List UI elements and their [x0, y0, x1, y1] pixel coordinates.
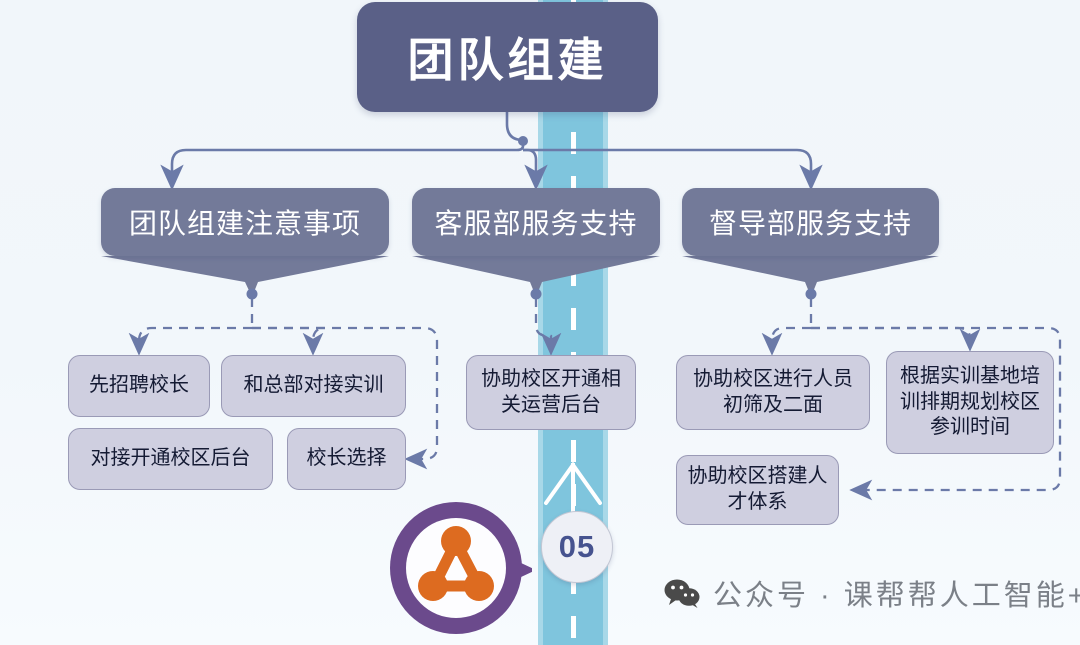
connector-title-to-n2-2: [523, 150, 536, 184]
leaf-label: 校长选择: [307, 446, 387, 472]
footer-credit: 公众号 · 课帮帮人工智能+: [664, 572, 1080, 614]
brand-logo: [384, 496, 532, 644]
step-number-badge: 05: [541, 511, 613, 583]
dash-to-l2: [252, 328, 325, 350]
title-label: 团队组建: [408, 24, 608, 90]
brand-logo-icon: [384, 496, 532, 644]
leaf-box-recruit-principal[interactable]: 先招聘校长: [68, 355, 210, 417]
leaf-box-campus-backend-setup[interactable]: 对接开通校区后台: [68, 428, 273, 490]
leaf-label: 协助校区开通相关运营后台: [475, 367, 627, 418]
dash-to-l1: [139, 328, 252, 350]
leaf-box-staff-screening-interview[interactable]: 协助校区进行人员初筛及二面: [676, 355, 870, 430]
funnel-dot-3: [806, 289, 817, 300]
step-number-label: 05: [559, 529, 595, 565]
connector-title-to-n2-3: [523, 150, 811, 184]
title-box[interactable]: 团队组建: [357, 2, 658, 112]
funnel-dot-1: [247, 289, 258, 300]
leaf-label: 协助校区进行人员初筛及二面: [685, 367, 861, 418]
funnel-dot-2: [531, 289, 542, 300]
branch-box-supervision-support[interactable]: 督导部服务支持: [682, 188, 939, 256]
leaf-label: 和总部对接实训: [244, 373, 384, 399]
footer-text: 公众号 · 课帮帮人工智能+: [713, 572, 1080, 614]
leaf-box-training-schedule-planning[interactable]: 根据实训基地培训排期规划校区参训时间: [886, 351, 1054, 454]
connector-title-junction-dot: [518, 136, 528, 146]
diagram-canvas: 团队组建 团队组建注意事项 客服部服务支持 督导部服务支持 先招聘校长 和总部对…: [0, 0, 1080, 645]
leaf-box-talent-system-building[interactable]: 协助校区搭建人才体系: [676, 455, 839, 525]
leaf-label: 先招聘校长: [89, 373, 189, 399]
dash-to-l7: [811, 328, 970, 346]
wechat-icon: [664, 578, 700, 608]
branch-box-team-building-notes[interactable]: 团队组建注意事项: [101, 188, 389, 256]
connector-title-to-n2-1: [172, 142, 523, 184]
branch-label: 团队组建注意事项: [129, 202, 361, 242]
leaf-label: 协助校区搭建人才体系: [685, 464, 830, 515]
leaf-label: 对接开通校区后台: [91, 446, 251, 472]
branch-label: 督导部服务支持: [709, 202, 912, 242]
dash-to-l5: [536, 298, 551, 350]
funnel-n2-1: [101, 256, 389, 297]
branch-box-customer-service-support[interactable]: 客服部服务支持: [412, 188, 660, 256]
dash-to-l6: [772, 328, 811, 350]
branch-label: 客服部服务支持: [434, 202, 637, 242]
leaf-label: 根据实训基地培训排期规划校区参训时间: [895, 364, 1045, 441]
leaf-box-principal-selection[interactable]: 校长选择: [287, 428, 406, 490]
leaf-box-hq-training-liaison[interactable]: 和总部对接实训: [221, 355, 406, 417]
leaf-box-operations-backend-activation[interactable]: 协助校区开通相关运营后台: [466, 355, 636, 430]
